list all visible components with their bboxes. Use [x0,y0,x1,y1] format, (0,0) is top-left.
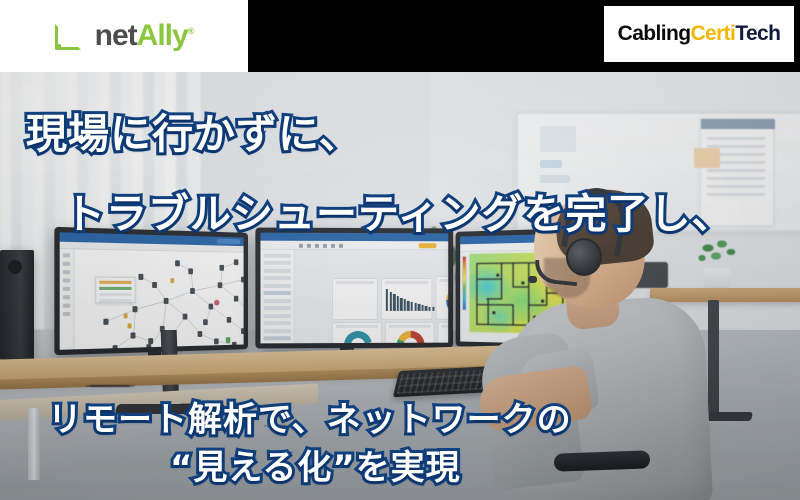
headline-line-3: リモート解析で、ネットワークの [48,392,572,441]
headline-line-4: “見える化”を実現 [170,440,461,489]
headline-line-2: トラブルシューティングを完了し、 [64,180,734,240]
netally-trademark: ® [188,26,194,36]
netally-wordmark: netAlly® [95,21,194,51]
cablingcertitech-wordmark: CablingCertiTech [618,22,781,46]
netally-logo[interactable]: netAlly® [0,0,248,72]
netally-word-ally: Ally [137,19,188,52]
headline-line-1: 現場に行かずに、 [26,100,361,160]
cct-word-cabling: Cabling [618,22,691,45]
promo-banner: 現場に行かずに、 トラブルシューティングを完了し、 リモート解析で、ネットワーク… [0,0,800,500]
cct-word-tech: Tech [735,22,780,45]
cct-word-certi: Certi [690,22,735,45]
wifi-signal-icon [55,22,89,50]
headline-copy: 現場に行かずに、 トラブルシューティングを完了し、 リモート解析で、ネットワーク… [0,0,800,500]
cablingcertitech-logo[interactable]: CablingCertiTech [604,6,794,62]
netally-word-net: net [95,19,137,52]
